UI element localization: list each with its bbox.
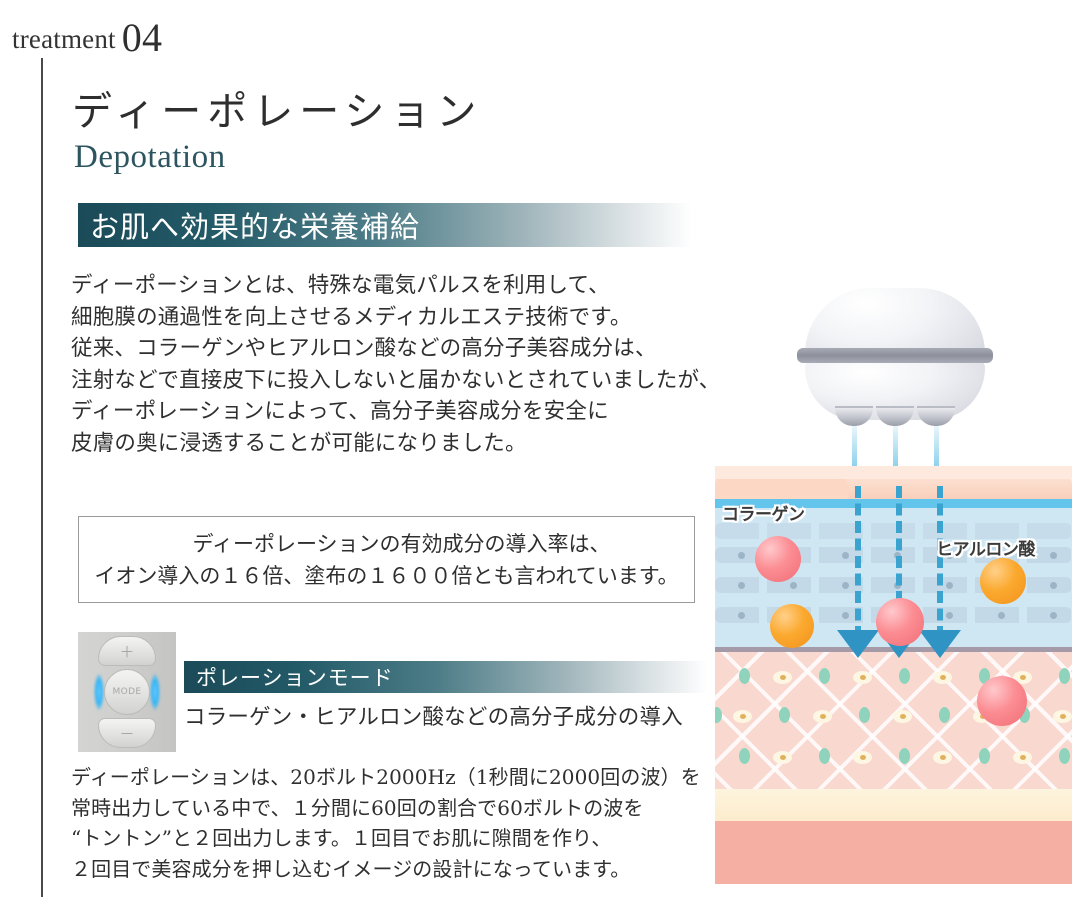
- applicator-tip-1: [835, 406, 873, 426]
- cell-dot: [738, 552, 745, 559]
- mesh-node: [1059, 668, 1070, 684]
- skin-surface-bumps: [715, 466, 1072, 479]
- deep-tissue-layer: [715, 821, 1072, 884]
- cell-dot: [842, 612, 849, 619]
- mode-glow-left-icon: [94, 674, 104, 710]
- cell-nucleus: [773, 671, 792, 684]
- hyaluronic-acid-label: ヒアルロン酸: [936, 535, 1035, 560]
- mesh-node: [819, 748, 830, 764]
- penetration-path-1: [855, 486, 861, 638]
- collagen-molecule: [876, 598, 924, 646]
- penetration-arrow-1-icon: [837, 630, 879, 658]
- intro-paragraph: ディーポーションとは、特殊な電気パルスを利用して、 細胞膜の通過性を向上させるメ…: [71, 270, 721, 459]
- left-vertical-rule: [41, 58, 43, 897]
- cell-dot: [738, 582, 745, 589]
- section-banner-nutrition-label: お肌へ効果的な栄養補給: [90, 204, 420, 246]
- collagen-molecule: [755, 536, 801, 582]
- penetration-path-3: [937, 486, 943, 638]
- cell-nucleus: [733, 710, 752, 723]
- cell-dot: [1050, 582, 1057, 589]
- bottom-paragraph: ディーポレーションは、20ボルト2000Hz（1秒間に2000回の波）を 常時出…: [71, 762, 701, 884]
- collagen-label: コラーゲン: [722, 500, 805, 525]
- dermis-layer: [715, 652, 1072, 789]
- cell-nucleus: [893, 710, 912, 723]
- mesh-node: [779, 707, 790, 723]
- mesh-node: [819, 668, 830, 684]
- section-banner-poration-mode: ポレーションモード: [184, 661, 708, 693]
- page-title-english: Depotation: [74, 139, 226, 176]
- cell-nucleus: [1013, 751, 1032, 764]
- cell-dot: [1050, 552, 1057, 559]
- cell-dot: [738, 612, 745, 619]
- treatment-word: treatment: [12, 24, 116, 54]
- cell-nucleus: [933, 751, 952, 764]
- cell-dot: [842, 552, 849, 559]
- skin-penetration-illustration: コラーゲン ヒアルロン酸: [707, 286, 1080, 886]
- cell-dot: [946, 612, 953, 619]
- mode-button[interactable]: MODE: [104, 669, 150, 715]
- applicator-head-icon: [797, 286, 993, 431]
- cell-nucleus: [853, 671, 872, 684]
- treatment-number: 04: [122, 15, 162, 60]
- cell-nucleus: [1053, 710, 1072, 723]
- effectiveness-line-1: ディーポレーションの有効成分の導入率は、: [162, 528, 610, 560]
- hyaluronic-acid-molecule: [980, 558, 1026, 604]
- plus-button[interactable]: ＋: [98, 636, 156, 666]
- mesh-node: [899, 668, 910, 684]
- cell-dot: [790, 582, 797, 589]
- cell-nucleus: [933, 671, 952, 684]
- mesh-node: [899, 748, 910, 764]
- poration-mode-description: コラーゲン・ヒアルロン酸などの高分子成分の導入: [184, 700, 683, 731]
- applicator-tip-3: [917, 406, 955, 426]
- cell-dot: [1050, 612, 1057, 619]
- section-banner-poration-mode-label: ポレーションモード: [196, 662, 394, 692]
- section-banner-nutrition: お肌へ効果的な栄養補給: [78, 203, 692, 247]
- page-title-japanese: ディーポレーション: [72, 79, 482, 137]
- device-control-panel: ＋ MODE －: [78, 632, 176, 752]
- collagen-molecule: [977, 676, 1027, 726]
- mesh-node: [979, 748, 990, 764]
- cell-dot: [946, 582, 953, 589]
- subcutaneous-fat-layer: [715, 789, 1072, 821]
- mode-glow-right-icon: [150, 674, 160, 710]
- treatment-label: treatment04: [12, 18, 162, 58]
- cell-dot: [842, 582, 849, 589]
- mesh-node: [859, 707, 870, 723]
- cell-dot: [998, 612, 1005, 619]
- mesh-node: [939, 707, 950, 723]
- hyaluronic-acid-molecule: [770, 604, 814, 648]
- effectiveness-callout-box: ディーポレーションの有効成分の導入率は、 イオン導入の１６倍、塗布の１６００倍と…: [78, 516, 695, 603]
- applicator-band: [797, 348, 993, 363]
- mesh-node: [739, 748, 750, 764]
- penetration-arrow-3-icon: [919, 630, 961, 658]
- mesh-node: [739, 668, 750, 684]
- cell-nucleus: [813, 710, 832, 723]
- minus-button[interactable]: －: [98, 718, 156, 748]
- cell-nucleus: [853, 751, 872, 764]
- effectiveness-line-2: イオン導入の１６倍、塗布の１６００倍とも言われています。: [94, 560, 678, 592]
- applicator-tip-2: [876, 406, 914, 426]
- mesh-node: [1059, 748, 1070, 764]
- cell-nucleus: [773, 751, 792, 764]
- skin-cross-section: [707, 466, 1080, 886]
